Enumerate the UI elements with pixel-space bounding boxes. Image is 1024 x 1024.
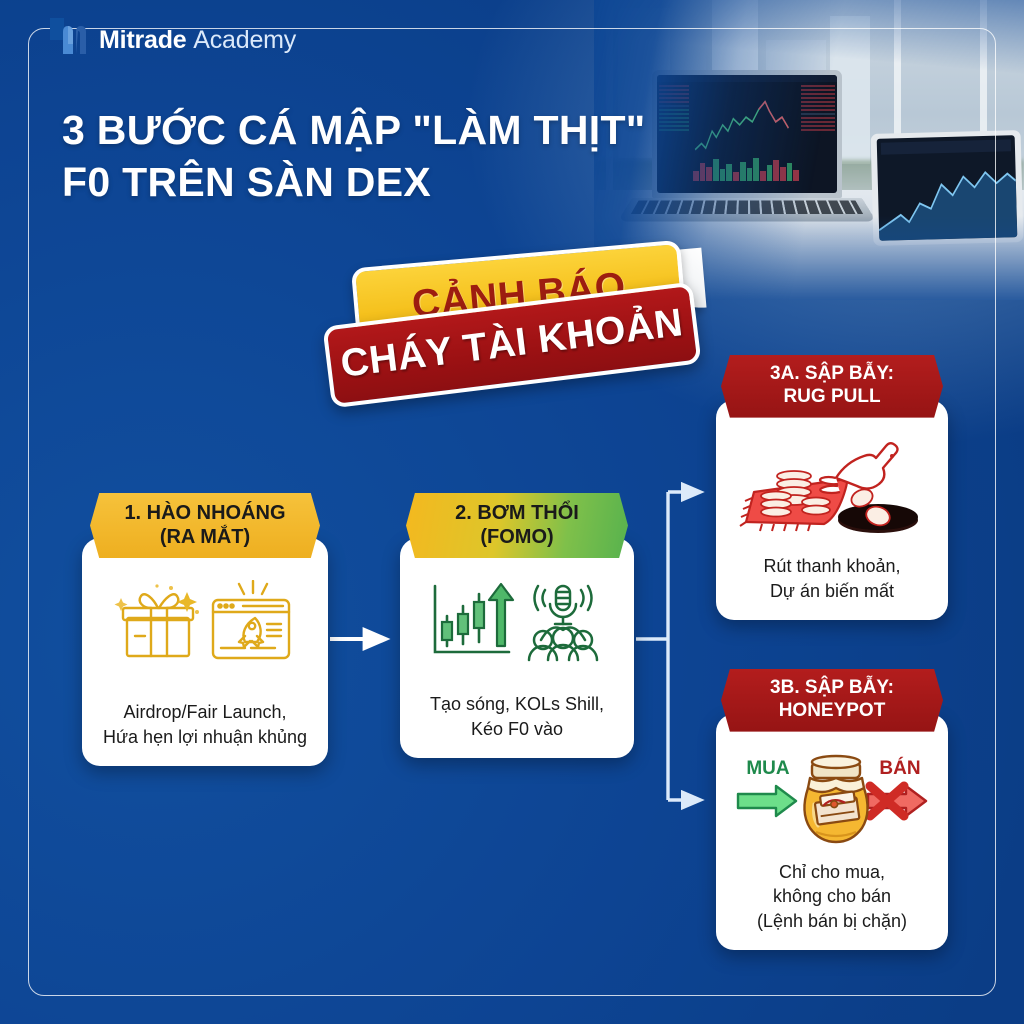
- gift-box-icon: [113, 580, 205, 664]
- step-3b-caption: Chỉ cho mua, không cho bán (Lệnh bán bị …: [724, 860, 940, 934]
- step-3a-header-line1: 3A. SẬP BẪY:: [721, 363, 943, 386]
- page-title: 3 BƯỚC CÁ MẬP "LÀM THỊT" F0 TRÊN SÀN DEX: [62, 104, 646, 208]
- step-2-icons: [400, 576, 634, 668]
- step-card-2[interactable]: 2. BƠM THỔI (FOMO): [400, 538, 634, 758]
- step-3b-caption-line1: Chỉ cho mua,: [724, 860, 940, 885]
- infographic-canvas: Mitrade Academy 3 BƯỚC CÁ MẬP "LÀM THỊT"…: [0, 0, 1024, 1024]
- mitrade-m-logo-icon: [60, 24, 90, 56]
- step-3a-header: 3A. SẬP BẪY: RUG PULL: [721, 355, 943, 418]
- step-1-caption-line1: Airdrop/Fair Launch,: [90, 700, 320, 725]
- step-3b-header: 3B. SẬP BẪY: HONEYPOT: [721, 669, 943, 732]
- step-card-1[interactable]: 1. HÀO NHOÁNG (RA MẮT): [82, 538, 328, 766]
- step-1-caption-line2: Hứa hẹn lợi nhuận khủng: [90, 725, 320, 750]
- buy-arrow-icon: [738, 786, 796, 816]
- step-2-header-line1: 2. BƠM THỔI: [406, 501, 628, 525]
- step-3a-header-line2: RUG PULL: [721, 386, 943, 409]
- step-2-header: 2. BƠM THỔI (FOMO): [406, 493, 628, 558]
- step-3b-caption-line3: (Lệnh bán bị chặn): [724, 909, 940, 934]
- step-3b-header-line1: 3B. SẬP BẪY:: [721, 677, 943, 700]
- step-1-header: 1. HÀO NHOÁNG (RA MẮT): [90, 493, 320, 558]
- arrow-step2-to-step3a-and-3b: [636, 492, 700, 800]
- step-1-icons: [82, 576, 328, 668]
- page-title-line1: 3 BƯỚC CÁ MẬP "LÀM THỊT": [62, 104, 646, 156]
- step-3b-icons: MUA BÁN: [716, 748, 948, 844]
- warning-banner: CẢNH BÁO CHÁY TÀI KHOẢN: [320, 248, 710, 398]
- step-2-caption: Tạo sóng, KOLs Shill, Kéo F0 vào: [408, 692, 626, 742]
- step-1-caption: Airdrop/Fair Launch, Hứa hẹn lợi nhuận k…: [90, 700, 320, 750]
- sell-label: BÁN: [879, 757, 920, 779]
- step-1-header-line2: (RA MẮT): [90, 525, 320, 549]
- step-1-header-line1: 1. HÀO NHOÁNG: [90, 501, 320, 525]
- step-3a-caption-line2: Dự án biến mất: [724, 579, 940, 604]
- step-3a-caption-line1: Rút thanh khoản,: [724, 554, 940, 579]
- step-card-3b[interactable]: 3B. SẬP BẪY: HONEYPOT MUA BÁN: [716, 714, 948, 950]
- page-title-line2: F0 TRÊN SÀN DEX: [62, 156, 646, 208]
- browser-rocket-launch-icon: [205, 580, 297, 664]
- megaphone-crowd-hype-icon: [517, 580, 609, 664]
- step-card-3a[interactable]: 3A. SẬP BẪY: RUG PULL: [716, 400, 948, 620]
- brand-name-bold: Mitrade: [99, 26, 187, 54]
- hand-pulling-rug-with-coins-icon: [732, 434, 932, 534]
- honeypot-trap-diagram: MUA BÁN: [728, 748, 936, 844]
- step-3b-caption-line2: không cho bán: [724, 884, 940, 909]
- brand-logo-lockup: Mitrade Academy: [60, 18, 296, 62]
- step-3a-icons: [716, 434, 948, 534]
- buy-label: MUA: [746, 758, 790, 779]
- step-2-caption-line1: Tạo sóng, KOLs Shill,: [408, 692, 626, 717]
- brand-name-light: Academy: [193, 26, 296, 54]
- rising-candlestick-chart-icon: [425, 580, 517, 664]
- step-2-caption-line2: Kéo F0 vào: [408, 717, 626, 742]
- step-3b-header-line2: HONEYPOT: [721, 700, 943, 723]
- step-2-header-line2: (FOMO): [406, 525, 628, 549]
- brand-name: Mitrade Academy: [99, 26, 296, 55]
- step-3a-caption: Rút thanh khoản, Dự án biến mất: [724, 554, 940, 604]
